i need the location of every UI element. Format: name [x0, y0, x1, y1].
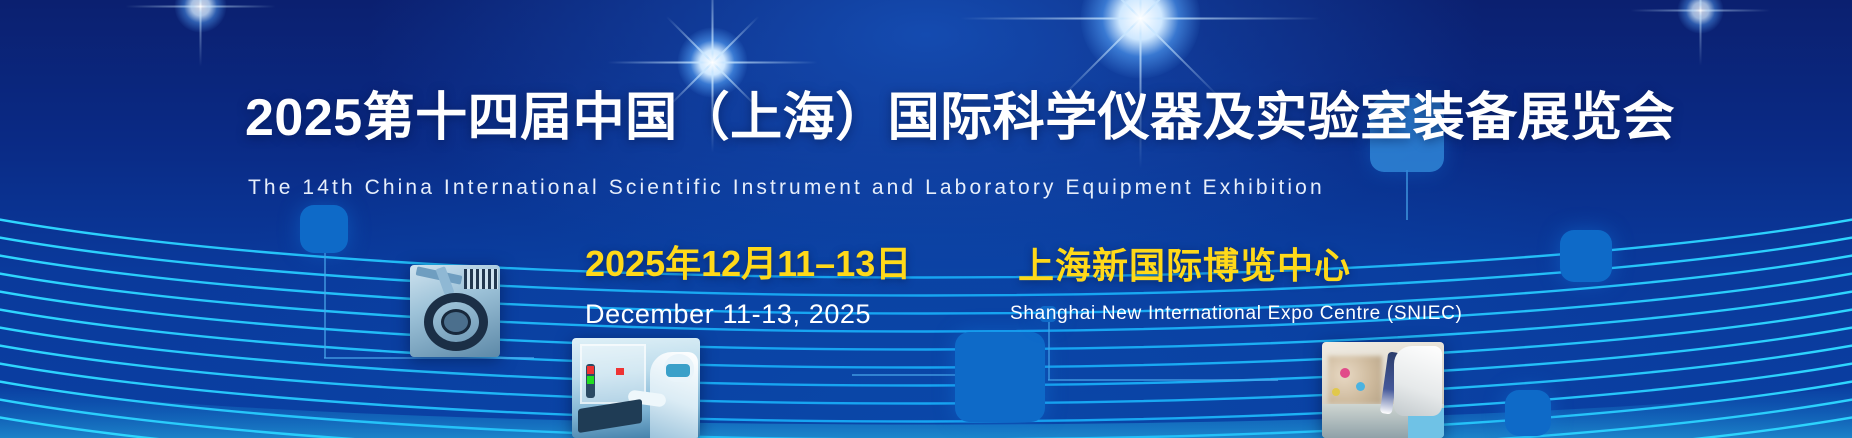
exhibition-banner: 2025第十四届中国（上海）国际科学仪器及实验室装备展览会 The 14th C… — [0, 0, 1852, 438]
exhibition-venue-english: Shanghai New International Expo Centre (… — [1010, 302, 1463, 326]
banner-content: 2025第十四届中国（上海）国际科学仪器及实验室装备展览会 The 14th C… — [0, 0, 1852, 438]
exhibition-title-english: The 14th China International Scientific … — [248, 175, 1325, 201]
exhibition-date-english: December 11-13, 2025 — [585, 298, 871, 330]
exhibition-venue-chinese: 上海新国际博览中心 — [1018, 245, 1351, 287]
exhibition-title-chinese: 2025第十四届中国（上海）国际科学仪器及实验室装备展览会 — [245, 89, 1675, 147]
exhibition-date-chinese: 2025年12月11–13日 — [585, 243, 911, 285]
